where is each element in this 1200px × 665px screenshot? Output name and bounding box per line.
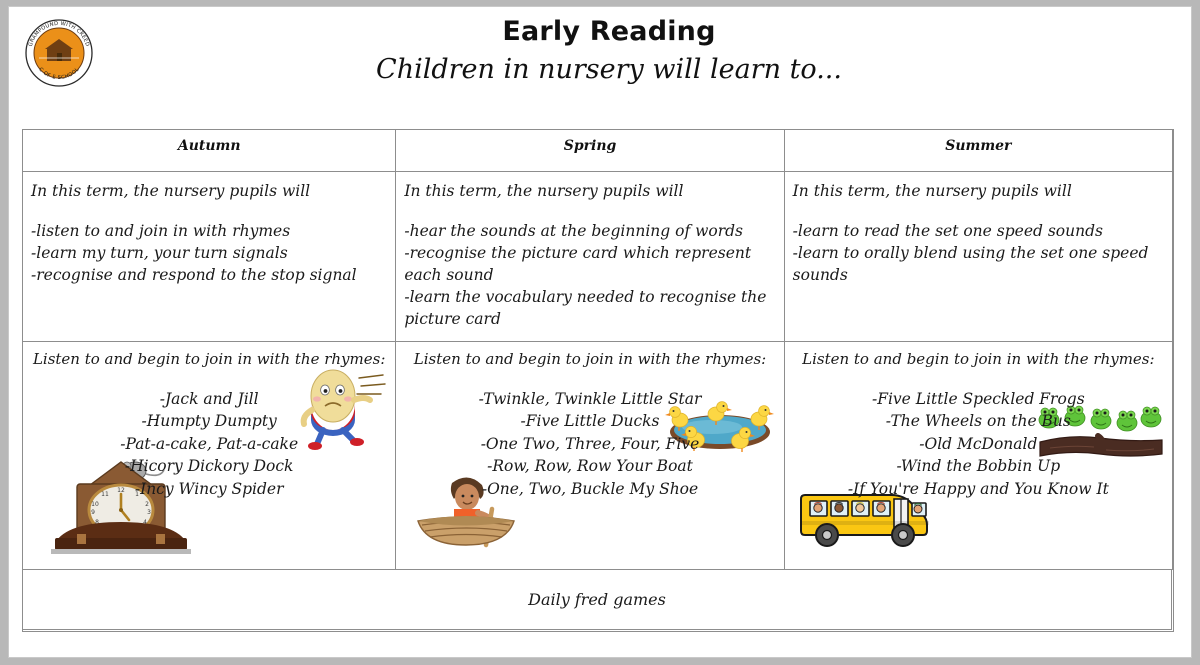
rhyme-item: -Incy Wincy Spider bbox=[23, 478, 395, 500]
rhyme-item: -Old McDonald bbox=[785, 433, 1172, 455]
intro-line: In this term, the nursery pupils will bbox=[793, 180, 1162, 202]
rhyme-item: -One Two, Three, Four, Five bbox=[396, 433, 783, 455]
objectives-cell-autumn: In this term, the nursery pupils will -l… bbox=[22, 171, 396, 342]
rhyme-item: -Pat-a-cake, Pat-a-cake bbox=[23, 433, 395, 455]
rhyme-item: -Jack and Jill bbox=[23, 388, 395, 410]
document-page: GRAMPOUND WITH CREED C OF E SCHOOL Early… bbox=[8, 6, 1192, 658]
page-subtitle: Children in nursery will learn to... bbox=[109, 53, 1109, 87]
objective-item: -learn to read the set one speed sounds bbox=[793, 220, 1162, 242]
rhymes-cell-spring: Listen to and begin to join in with the … bbox=[395, 341, 784, 570]
rhyme-item: -Twinkle, Twinkle Little Star bbox=[396, 388, 783, 410]
intro-line: In this term, the nursery pupils will bbox=[31, 180, 385, 202]
svg-text:10: 10 bbox=[91, 501, 99, 508]
rhymes-heading: Listen to and begin to join in with the … bbox=[23, 342, 395, 368]
objectives-cell-spring: In this term, the nursery pupils will -h… bbox=[395, 171, 784, 342]
rhyme-item: -Row, Row, Row Your Boat bbox=[396, 455, 783, 477]
curriculum-table: Autumn Spring Summer In this term, the n… bbox=[22, 129, 1174, 632]
column-header-label: Summer bbox=[785, 130, 1172, 154]
crest-icon: GRAMPOUND WITH CREED C OF E SCHOOL bbox=[19, 17, 99, 89]
objective-item: -learn the vocabulary needed to recognis… bbox=[404, 286, 773, 330]
rhyme-item: -The Wheels on the Bus bbox=[785, 410, 1172, 432]
footer-cell: Daily fred games bbox=[22, 569, 1172, 630]
rhyme-item: -Hicory Dickory Dock bbox=[23, 455, 395, 477]
objective-item: -learn to orally blend using the set one… bbox=[793, 242, 1162, 286]
page-header: Early Reading Children in nursery will l… bbox=[109, 15, 1109, 87]
rhyme-item: -Humpty Dumpty bbox=[23, 410, 395, 432]
objective-item: -learn my turn, your turn signals bbox=[31, 242, 385, 264]
column-header-autumn: Autumn bbox=[22, 129, 396, 172]
rhyme-item: -Five Little Ducks bbox=[396, 410, 783, 432]
rhymes-cell-autumn: Listen to and begin to join in with the … bbox=[22, 341, 396, 570]
table-header-row: Autumn Spring Summer bbox=[23, 130, 1173, 172]
objective-item: -listen to and join in with rhymes bbox=[31, 220, 385, 242]
rhymes-heading: Listen to and begin to join in with the … bbox=[785, 342, 1172, 368]
page-title: Early Reading bbox=[109, 15, 1109, 49]
objective-item: -recognise and respond to the stop signa… bbox=[31, 264, 385, 286]
rhyme-item: -One, Two, Buckle My Shoe bbox=[396, 478, 783, 500]
objective-item: -hear the sounds at the beginning of wor… bbox=[404, 220, 773, 242]
objective-item: -recognise the picture card which repres… bbox=[404, 242, 773, 286]
intro-line: In this term, the nursery pupils will bbox=[404, 180, 773, 202]
rhymes-heading: Listen to and begin to join in with the … bbox=[396, 342, 783, 368]
rhyme-item: -If You're Happy and You Know It bbox=[785, 478, 1172, 500]
footer-row: Daily fred games bbox=[23, 570, 1173, 630]
rhymes-row: Listen to and begin to join in with the … bbox=[23, 342, 1173, 570]
objectives-cell-summer: In this term, the nursery pupils will -l… bbox=[784, 171, 1173, 342]
column-header-label: Autumn bbox=[23, 130, 395, 154]
rhyme-item: -Wind the Bobbin Up bbox=[785, 455, 1172, 477]
svg-text:9: 9 bbox=[91, 509, 95, 516]
column-header-summer: Summer bbox=[784, 129, 1173, 172]
footer-label: Daily fred games bbox=[23, 570, 1171, 609]
rhyme-item: -Five Little Speckled Frogs bbox=[785, 388, 1172, 410]
school-crest-logo: GRAMPOUND WITH CREED C OF E SCHOOL bbox=[19, 17, 99, 89]
column-header-label: Spring bbox=[396, 130, 783, 154]
svg-text:3: 3 bbox=[147, 509, 151, 516]
objectives-row: In this term, the nursery pupils will -l… bbox=[23, 172, 1173, 342]
column-header-spring: Spring bbox=[395, 129, 784, 172]
svg-text:2: 2 bbox=[145, 501, 149, 508]
rhymes-cell-summer: Listen to and begin to join in with the … bbox=[784, 341, 1173, 570]
